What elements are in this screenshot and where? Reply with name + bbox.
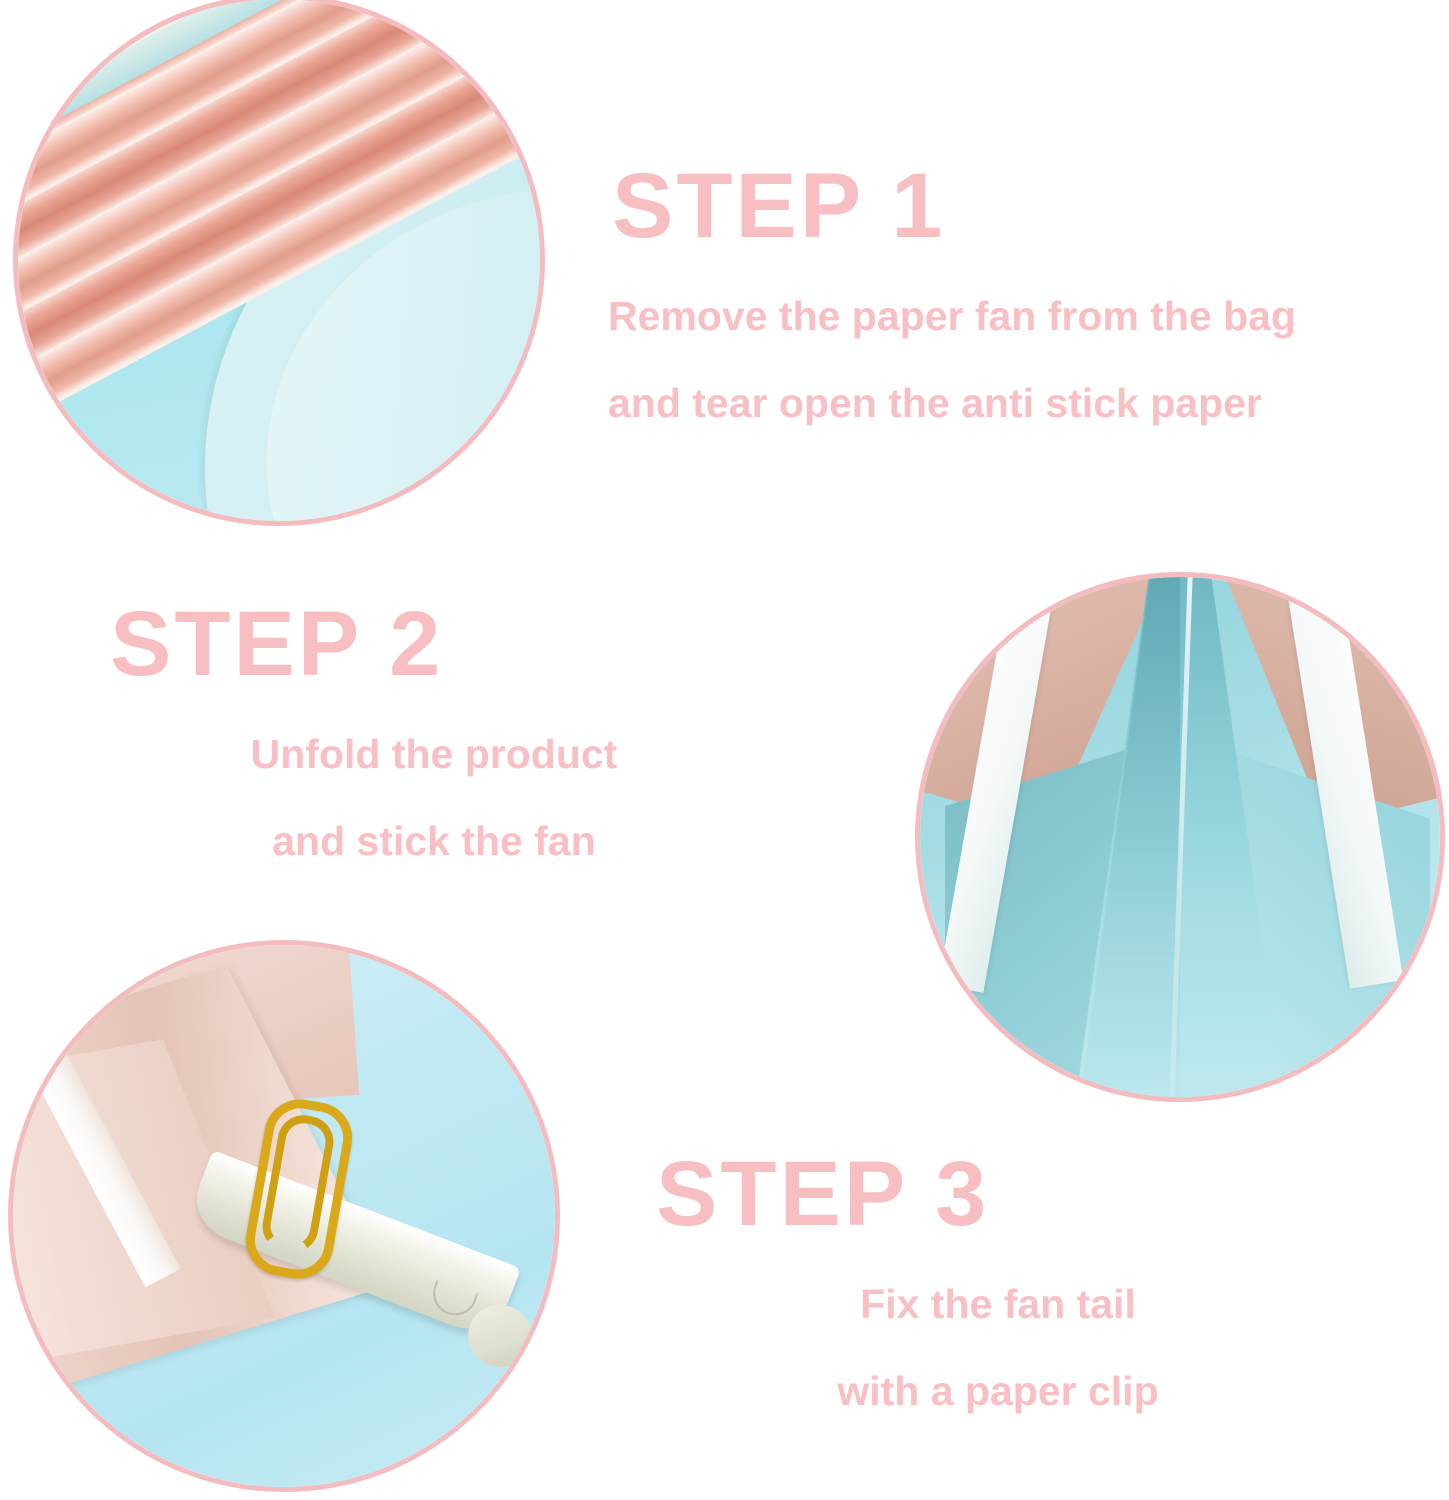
step3-title: STEP 3: [656, 1148, 1348, 1240]
step3-photo-inner: [13, 945, 555, 1487]
step3-text-block: STEP 3 Fix the fan tail with a paper cli…: [648, 1148, 1348, 1412]
step3-description-line-2: with a paper clip: [648, 1371, 1348, 1412]
step2-description-line-1: Unfold the product: [104, 734, 764, 775]
step2-photo-circle: [915, 572, 1445, 1102]
step3-photo-circle: [8, 940, 560, 1492]
step1-text-block: STEP 1 Remove the paper fan from the bag…: [608, 160, 1296, 424]
step1-description-line-2: and tear open the anti stick paper: [608, 383, 1296, 424]
step2-text-block: STEP 2 Unfold the product and stick the …: [104, 598, 764, 862]
step2-description-line-2: and stick the fan: [104, 821, 764, 862]
step2-title: STEP 2: [110, 598, 764, 690]
step3-description-line-1: Fix the fan tail: [648, 1284, 1348, 1325]
step1-photo-circle: [13, 0, 545, 526]
step1-description-line-1: Remove the paper fan from the bag: [608, 296, 1296, 337]
step2-photo-inner: [920, 577, 1440, 1097]
step1-photo-inner: [18, 0, 540, 521]
step1-title: STEP 1: [612, 160, 1296, 252]
